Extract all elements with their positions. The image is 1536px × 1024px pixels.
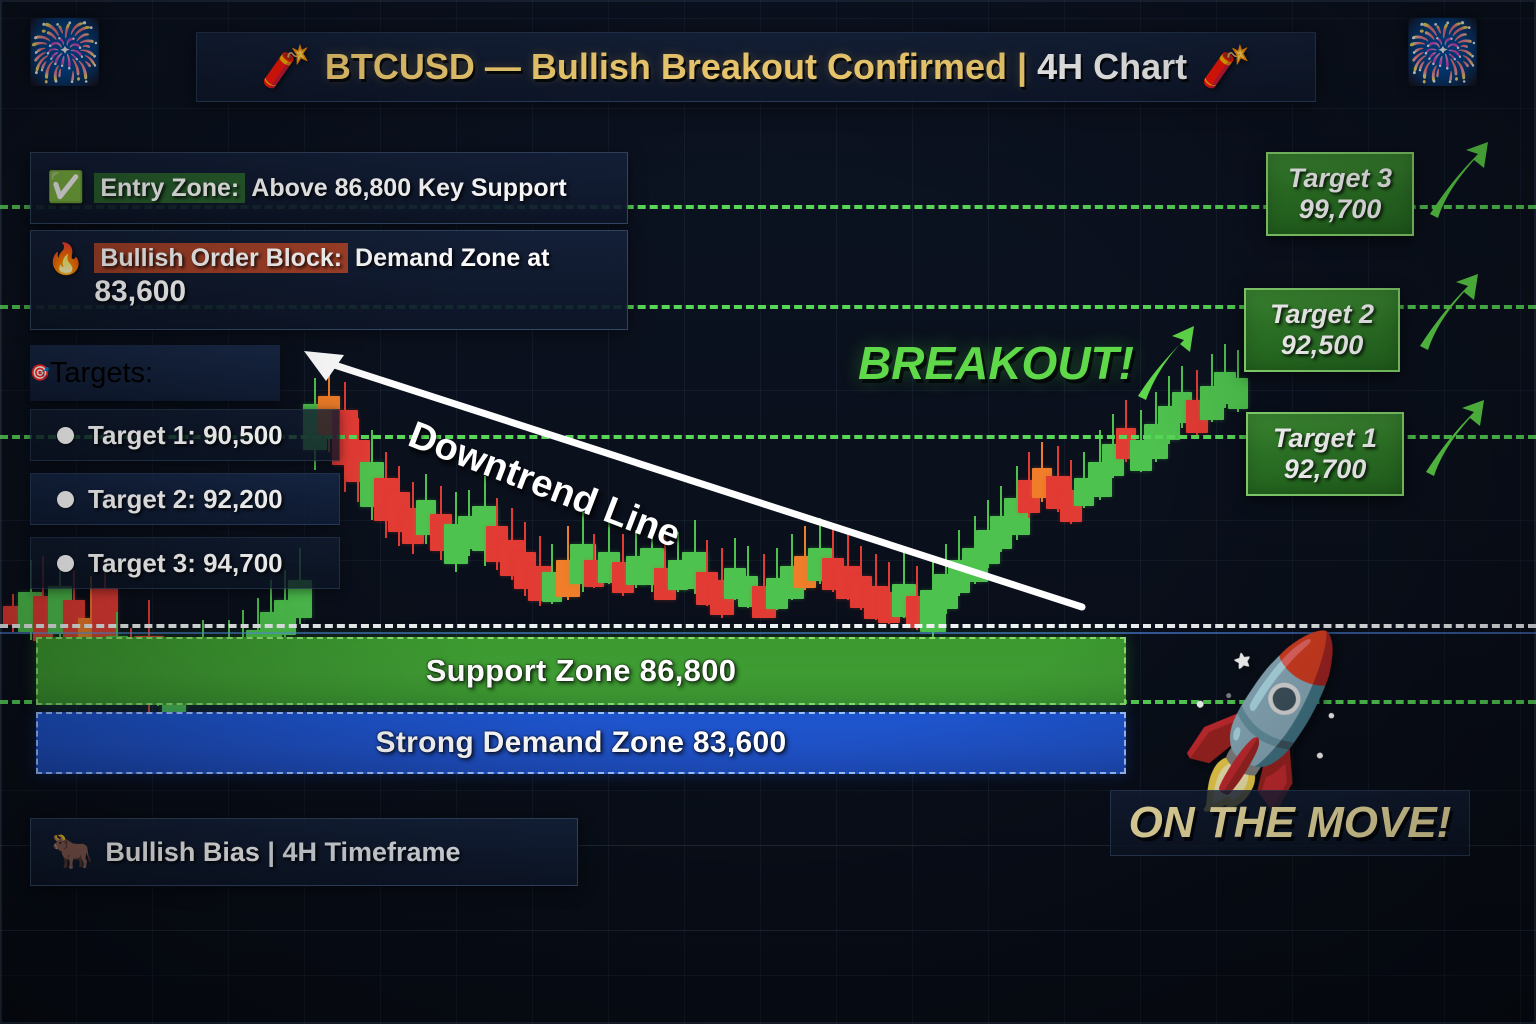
target-2-arrow-icon: [1414, 272, 1480, 352]
bull-icon: 🐂: [51, 832, 93, 872]
title-dash: —: [485, 46, 521, 87]
demand-zone-label: Strong Demand Zone 83,600: [376, 726, 787, 760]
targets-heading-panel: 🎯 Targets:: [30, 345, 280, 401]
title-main: Bullish Breakout Confirmed: [531, 46, 1007, 87]
target-box-1-name: Target 1: [1273, 423, 1377, 454]
chart-poster: Support Zone 86,800 Strong Demand Zone 8…: [0, 0, 1536, 1024]
breakout-arrow-icon: [1128, 322, 1198, 402]
title-separator: |: [1017, 46, 1027, 87]
order-block-label: Bullish Order Block:: [94, 243, 348, 273]
target-row-3[interactable]: Target 3: 94,700: [30, 537, 340, 589]
firework-left-icon: 🎆: [26, 22, 103, 84]
on-the-move-text: ON THE MOVE!: [1129, 798, 1452, 848]
target-3-arrow-icon: [1424, 140, 1490, 220]
key-support-line: [0, 624, 1536, 628]
check-mark-icon: ✅: [47, 173, 84, 203]
order-block-price: 83,600: [94, 275, 186, 308]
entry-zone-value: Above 86,800 Key Support: [251, 174, 566, 202]
breakout-callout: BREAKOUT!: [858, 336, 1134, 390]
target-box-1[interactable]: Target 1 92,700: [1246, 412, 1404, 496]
target-row-1-label: Target 1: 90,500: [88, 420, 283, 451]
title-timeframe: 4H Chart: [1037, 46, 1187, 87]
target-row-3-label: Target 3: 94,700: [88, 548, 283, 579]
bias-main: Bullish Bias: [105, 837, 260, 867]
target-box-2[interactable]: Target 2 92,500: [1244, 288, 1400, 372]
entry-zone-label: Entry Zone:: [94, 173, 245, 203]
target-box-3-price: 99,700: [1299, 194, 1382, 225]
bullet-icon: [57, 555, 74, 572]
page-title: BTCUSD — Bullish Breakout Confirmed | 4H…: [325, 46, 1187, 88]
candle-body: [1228, 378, 1248, 409]
fire-icon: 🔥: [47, 245, 84, 275]
targets-heading: Targets:: [50, 357, 153, 390]
target-box-3-name: Target 3: [1288, 163, 1392, 194]
bias-bar[interactable]: 🐂 Bullish Bias | 4H Timeframe: [30, 818, 578, 886]
firecracker-left-icon: 🧨: [261, 47, 311, 87]
target-1-arrow-icon: [1420, 398, 1486, 478]
target-box-2-name: Target 2: [1270, 299, 1374, 330]
bias-text: Bullish Bias | 4H Timeframe: [105, 837, 460, 868]
demand-zone-band: Strong Demand Zone 83,600: [36, 712, 1126, 774]
on-the-move-banner: ON THE MOVE!: [1110, 790, 1470, 856]
bullet-icon: [57, 491, 74, 508]
target-box-1-price: 92,700: [1284, 454, 1367, 485]
target-icon: 🎯: [30, 363, 50, 383]
entry-zone-panel[interactable]: ✅ Entry Zone: Above 86,800 Key Support: [30, 152, 628, 224]
title-symbol: BTCUSD: [325, 46, 475, 87]
title-banner: 🧨 BTCUSD — Bullish Breakout Confirmed | …: [196, 32, 1316, 102]
order-block-text: Bullish Order Block: Demand Zone at 83,6…: [94, 243, 549, 310]
target-row-1[interactable]: Target 1: 90,500: [30, 409, 340, 461]
entry-zone-text: Entry Zone: Above 86,800 Key Support: [94, 173, 566, 204]
firework-right-icon: 🎆: [1404, 22, 1481, 84]
bias-sub: 4H Timeframe: [282, 837, 460, 867]
bullet-icon: [57, 427, 74, 444]
support-zone-label: Support Zone 86,800: [426, 653, 737, 689]
support-zone-band: Support Zone 86,800: [36, 637, 1126, 705]
firecracker-right-icon: 🧨: [1201, 47, 1251, 87]
target-box-3[interactable]: Target 3 99,700: [1266, 152, 1414, 236]
target-row-2[interactable]: Target 2: 92,200: [30, 473, 340, 525]
bias-separator: |: [267, 837, 275, 867]
target-row-2-label: Target 2: 92,200: [88, 484, 283, 515]
order-block-panel[interactable]: 🔥 Bullish Order Block: Demand Zone at 83…: [30, 230, 628, 330]
order-block-value: Demand Zone at: [355, 244, 549, 272]
breakout-text: BREAKOUT!: [858, 337, 1134, 389]
target-box-2-price: 92,500: [1281, 330, 1364, 361]
